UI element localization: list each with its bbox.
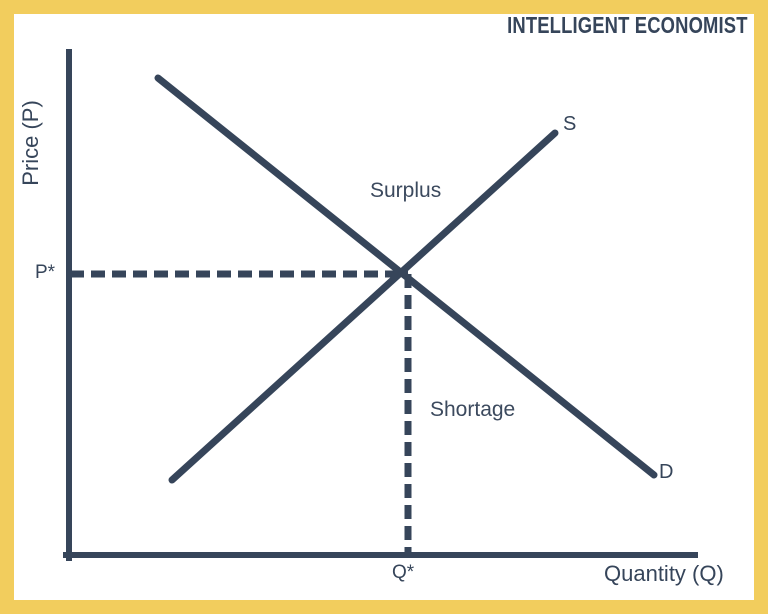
supply-demand-chart: Price (P) Quantity (Q) P* Q* S D Surplus…	[0, 0, 768, 614]
brand-wordmark: INTELLIGENT ECONOMIST	[507, 12, 748, 39]
diagram-page: Price (P) Quantity (Q) P* Q* S D Surplus…	[0, 0, 768, 614]
equilibrium-quantity-label: Q*	[392, 562, 414, 584]
equilibrium-price-label: P*	[35, 262, 55, 284]
supply-curve	[172, 133, 555, 480]
x-axis-label: Quantity (Q)	[604, 561, 724, 587]
supply-curve-label: S	[563, 113, 576, 136]
y-axis-label: Price (P)	[18, 83, 44, 203]
chart-canvas	[0, 0, 768, 614]
surplus-region-label: Surplus	[370, 179, 441, 203]
shortage-region-label: Shortage	[430, 398, 515, 422]
demand-curve-label: D	[659, 461, 673, 484]
